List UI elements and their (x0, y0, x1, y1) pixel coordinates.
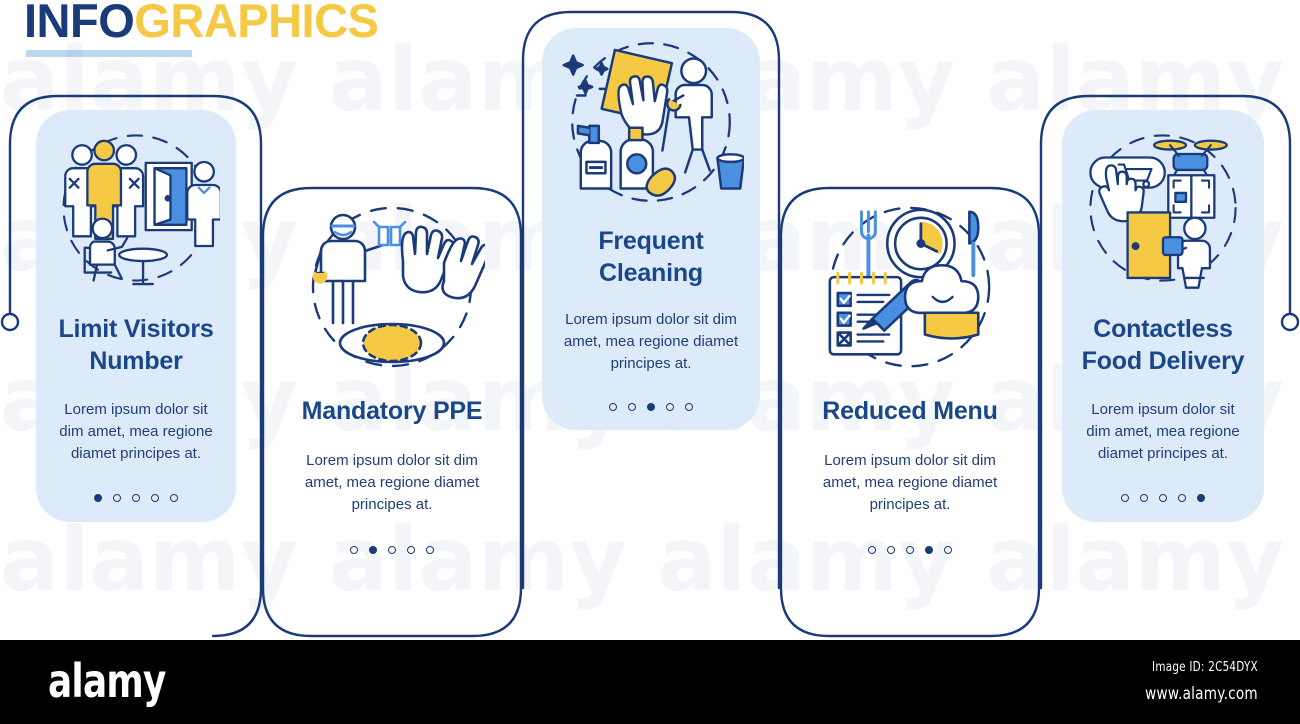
stock-footer-bar: alamy Image ID: 2C54DYX www.alamy.com (0, 640, 1300, 724)
card-art-3 (558, 28, 744, 218)
dot-3[interactable] (388, 546, 396, 554)
left-endpoint-circle (2, 314, 18, 330)
dot-3[interactable] (906, 546, 914, 554)
card-body-4: Lorem ipsum dolor sit dim amet, mea regi… (816, 450, 1004, 516)
card-title-1: Limit Visitors Number (52, 314, 220, 377)
dot-3[interactable] (132, 494, 140, 502)
card-dots-1[interactable] (94, 494, 178, 502)
dot-4[interactable] (666, 403, 674, 411)
card-dots-2[interactable] (350, 546, 434, 554)
card-art-2 (298, 196, 486, 386)
card-limit-visitors-number[interactable]: Limit Visitors Number Lorem ipsum dolor … (36, 110, 236, 522)
dot-2[interactable] (628, 403, 636, 411)
cleaning-supplies-mop-bucket-icon (558, 30, 744, 216)
alamy-logo[interactable]: alamy (48, 654, 166, 708)
card-contactless-food-delivery[interactable]: Contactless Food Delivery Lorem ipsum do… (1062, 110, 1264, 522)
card-art-5 (1078, 110, 1248, 306)
dot-1[interactable] (868, 546, 876, 554)
dot-4[interactable] (925, 546, 933, 554)
alamy-url-link[interactable]: www.alamy.com (1145, 684, 1258, 704)
dot-5[interactable] (944, 546, 952, 554)
card-mandatory-ppe[interactable]: Mandatory PPE Lorem ipsum dolor sit dim … (282, 196, 502, 608)
dot-5[interactable] (685, 403, 693, 411)
dot-5[interactable] (426, 546, 434, 554)
dot-3[interactable] (647, 403, 655, 411)
dot-4[interactable] (407, 546, 415, 554)
dot-4[interactable] (1178, 494, 1186, 502)
dot-1[interactable] (350, 546, 358, 554)
card-dots-4[interactable] (868, 546, 952, 554)
dot-2[interactable] (369, 546, 377, 554)
dot-1[interactable] (1121, 494, 1129, 502)
ppe-suit-gloves-mask-icon (299, 201, 485, 381)
dot-4[interactable] (151, 494, 159, 502)
dot-5[interactable] (170, 494, 178, 502)
card-body-5: Lorem ipsum dolor sit dim amet, mea regi… (1078, 399, 1248, 465)
card-dots-5[interactable] (1121, 494, 1205, 502)
cart-drone-door-courier-icon (1078, 113, 1248, 303)
card-body-3: Lorem ipsum dolor sit dim amet, mea regi… (558, 309, 744, 375)
card-title-3: Frequent Cleaning (558, 226, 744, 289)
card-body-1: Lorem ipsum dolor sit dim amet, mea regi… (52, 399, 220, 465)
dot-1[interactable] (609, 403, 617, 411)
card-dots-3[interactable] (609, 403, 693, 411)
image-id-label: Image ID: 2C54DYX (1145, 660, 1258, 675)
card-title-4: Reduced Menu (822, 396, 997, 428)
footer-meta: Image ID: 2C54DYX www.alamy.com (1117, 660, 1258, 704)
infographic-stage: alamy alamy alamy alamy alamy alamy alam… (0, 0, 1300, 640)
card-title-5: Contactless Food Delivery (1078, 314, 1248, 377)
right-endpoint-circle (1282, 314, 1298, 330)
people-door-table-icon (52, 113, 220, 303)
card-art-4 (816, 196, 1004, 386)
dot-3[interactable] (1159, 494, 1167, 502)
card-art-1 (52, 110, 220, 306)
card-reduced-menu[interactable]: Reduced Menu Lorem ipsum dolor sit dim a… (800, 196, 1020, 608)
card-frequent-cleaning[interactable]: Frequent Cleaning Lorem ipsum dolor sit … (542, 28, 760, 430)
card-body-2: Lorem ipsum dolor sit dim amet, mea regi… (298, 450, 486, 516)
dot-5[interactable] (1197, 494, 1205, 502)
card-title-2: Mandatory PPE (302, 396, 483, 428)
dot-2[interactable] (1140, 494, 1148, 502)
dot-1[interactable] (94, 494, 102, 502)
cutlery-clock-checklist-chefhat-icon (816, 201, 1004, 381)
dot-2[interactable] (113, 494, 121, 502)
dot-2[interactable] (887, 546, 895, 554)
